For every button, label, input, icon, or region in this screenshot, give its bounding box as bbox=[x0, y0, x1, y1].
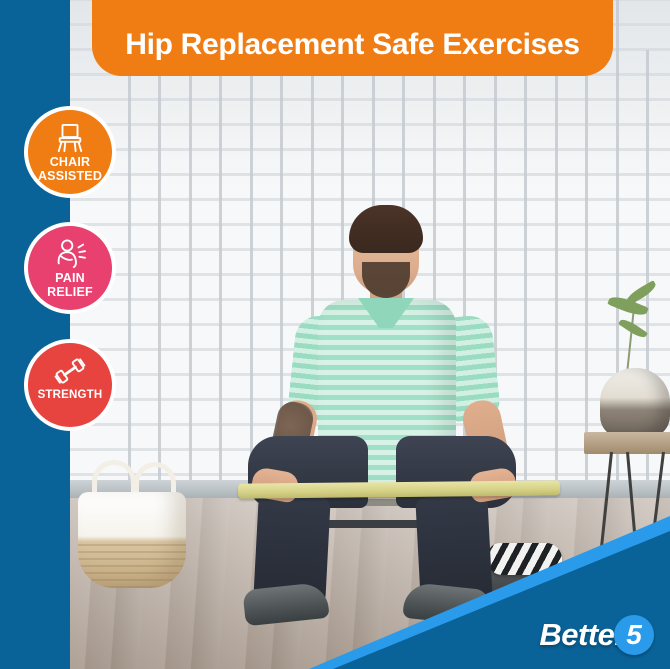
badge-pain-relief[interactable]: PAIN RELIEF bbox=[24, 222, 116, 314]
woven-plant-pot bbox=[600, 368, 670, 438]
patterned-towel bbox=[488, 543, 562, 575]
poster-canvas: CHAIR ASSISTED PAIN RELIEF STRENGTH Hip … bbox=[0, 0, 670, 669]
badge-label: CHAIR ASSISTED bbox=[38, 156, 102, 183]
page-title: Hip Replacement Safe Exercises bbox=[125, 28, 580, 62]
badge-label: PAIN RELIEF bbox=[47, 272, 93, 299]
badge-label: STRENGTH bbox=[38, 389, 103, 403]
chair-icon bbox=[51, 123, 89, 153]
title-banner: Hip Replacement Safe Exercises bbox=[92, 0, 613, 76]
back-pain-person-icon bbox=[51, 239, 89, 269]
badge-chair-assisted[interactable]: CHAIR ASSISTED bbox=[24, 106, 116, 198]
left-blue-sidebar bbox=[0, 0, 70, 669]
brand-name: Better bbox=[539, 617, 626, 653]
badge-strength[interactable]: STRENGTH bbox=[24, 339, 116, 431]
brand-number-badge: 5 bbox=[614, 615, 654, 655]
better5-logo[interactable]: Better 5 bbox=[539, 615, 654, 655]
side-table-top bbox=[584, 432, 670, 454]
dumbbell-icon bbox=[51, 356, 89, 386]
exercise-photo bbox=[70, 0, 670, 669]
woven-basket bbox=[78, 492, 186, 588]
